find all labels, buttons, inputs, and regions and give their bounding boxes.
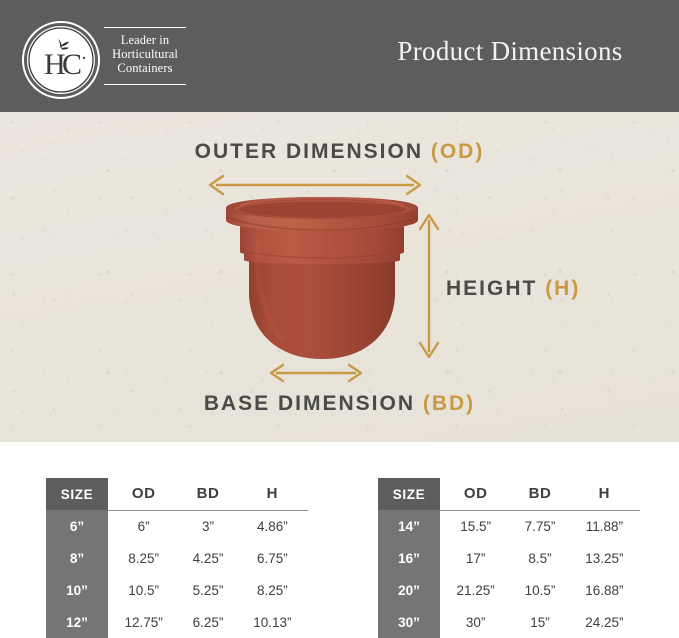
header-bar: H C Leader in Horticultural Containers P… [0,0,679,112]
column-header-od: OD [108,478,179,510]
logo-divider-top [104,27,186,28]
table-row: 14” 15.5” 7.75” 11.88” [378,510,640,542]
table-header-row: SIZE OD BD H [378,478,640,510]
column-header-bd: BD [511,478,568,510]
table-row: 10” 10.5” 5.25” 8.25” [46,574,308,606]
outer-dimension-code: (OD) [431,140,485,163]
cell-size: 12” [46,606,108,638]
cell-h: 6.75” [237,542,308,574]
cell-size: 30” [378,606,440,638]
base-dimension-code: (BD) [423,392,475,415]
cell-h: 16.88” [569,574,640,606]
hc-leaf-monogram-logo: H C [27,26,95,94]
table-row: 12” 12.75” 6.25” 10.13” [46,606,308,638]
column-header-size: SIZE [378,478,440,510]
height-text: HEIGHT [446,277,537,300]
table-row: 30” 30” 15” 24.25” [378,606,640,638]
cell-od: 10.5” [108,574,179,606]
table-row: 20” 21.25” 10.5” 16.88” [378,574,640,606]
logo-divider-bottom [104,84,186,85]
tagline-line-3: Containers [104,61,186,75]
cell-size: 10” [46,574,108,606]
cell-od: 17” [440,542,511,574]
svg-text:C: C [62,48,82,81]
cell-bd: 15” [511,606,568,638]
dimension-tables: SIZE OD BD H 6” 6” 3” 4.86” 8” 8.25” 4.2… [0,478,679,636]
height-label: HEIGHT (H) [446,277,580,301]
cell-h: 24.25” [569,606,640,638]
cell-h: 11.88” [569,510,640,542]
table-header-row: SIZE OD BD H [46,478,308,510]
column-header-size: SIZE [46,478,108,510]
cell-h: 13.25” [569,542,640,574]
outer-dimension-arrow [204,172,426,198]
cell-size: 8” [46,542,108,574]
brand-logo: H C [22,21,100,99]
column-header-h: H [237,478,308,510]
cell-h: 4.86” [237,510,308,542]
cell-bd: 4.25” [179,542,236,574]
cell-size: 16” [378,542,440,574]
cell-od: 15.5” [440,510,511,542]
table-row: 16” 17” 8.5” 13.25” [378,542,640,574]
tagline-line-2: Horticultural [104,47,186,61]
cell-bd: 6.25” [179,606,236,638]
column-header-h: H [569,478,640,510]
base-dimension-text: BASE DIMENSION [204,392,415,415]
outer-dimension-text: OUTER DIMENSION [195,140,423,163]
page-title: Product Dimensions [360,36,660,67]
diagram-panel: OUTER DIMENSION (OD) HEIGHT (H) BASE DIM… [0,112,679,442]
cell-od: 21.25” [440,574,511,606]
cell-bd: 5.25” [179,574,236,606]
cell-od: 30” [440,606,511,638]
cell-bd: 10.5” [511,574,568,606]
cell-bd: 7.75” [511,510,568,542]
cell-size: 6” [46,510,108,542]
cell-size: 14” [378,510,440,542]
cell-h: 10.13” [237,606,308,638]
cell-od: 12.75” [108,606,179,638]
cell-od: 8.25” [108,542,179,574]
flower-pot-illustration [218,196,426,376]
column-header-bd: BD [179,478,236,510]
column-header-od: OD [440,478,511,510]
height-code: (H) [545,277,580,300]
table-row: 6” 6” 3” 4.86” [46,510,308,542]
brand-tagline: Leader in Horticultural Containers [104,33,186,75]
dimension-table-small-sizes: SIZE OD BD H 6” 6” 3” 4.86” 8” 8.25” 4.2… [46,478,308,638]
base-dimension-label: BASE DIMENSION (BD) [0,392,679,416]
cell-bd: 3” [179,510,236,542]
dimension-table-large-sizes: SIZE OD BD H 14” 15.5” 7.75” 11.88” 16” … [378,478,640,638]
cell-size: 20” [378,574,440,606]
table-row: 8” 8.25” 4.25” 6.75” [46,542,308,574]
tagline-line-1: Leader in [104,33,186,47]
cell-h: 8.25” [237,574,308,606]
cell-od: 6” [108,510,179,542]
outer-dimension-label: OUTER DIMENSION (OD) [0,140,679,164]
cell-bd: 8.5” [511,542,568,574]
